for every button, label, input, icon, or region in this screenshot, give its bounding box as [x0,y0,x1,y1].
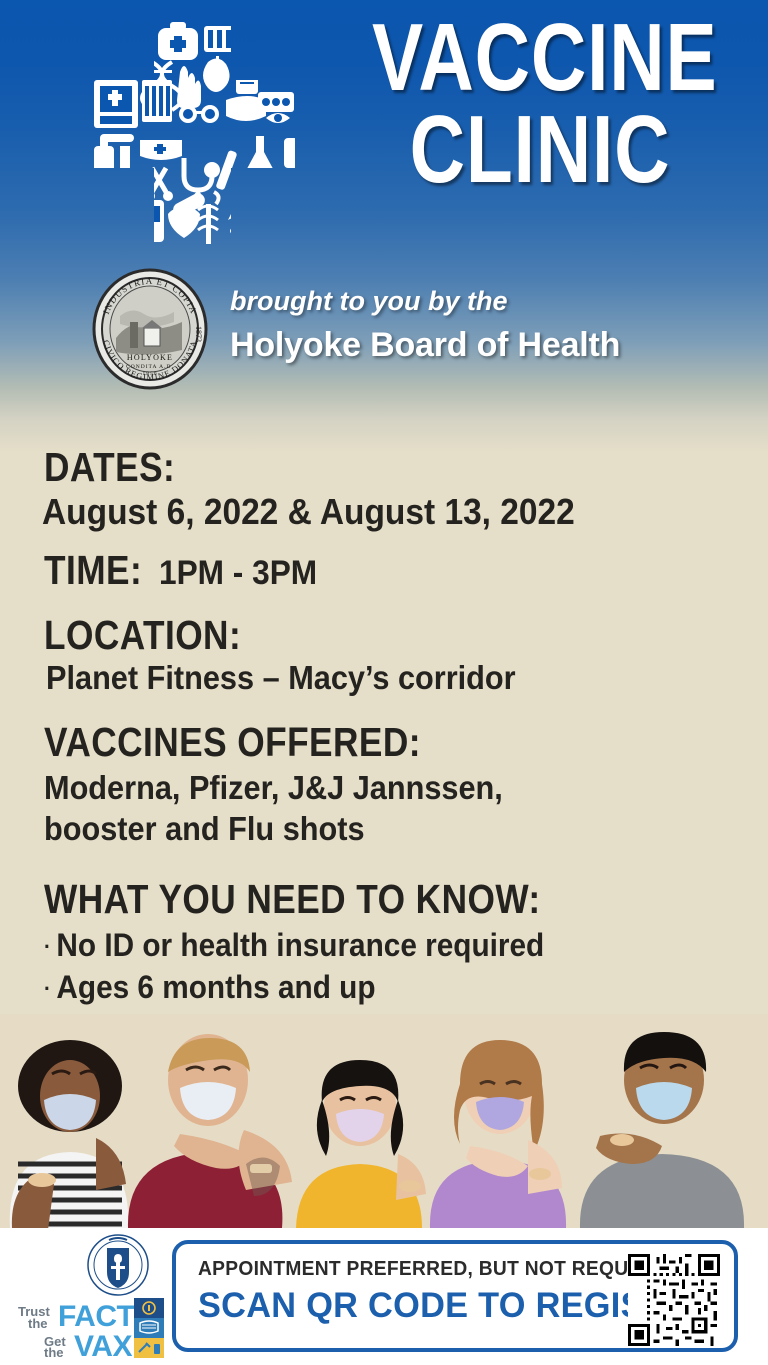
vaccines-label: VACCINES OFFERED: [44,719,421,766]
people-photo-strip [0,1014,768,1228]
holyoke-city-seal-icon: INDUSTRIA ET COPIA CIVICO REGIMINE DONAT… [86,268,214,390]
brought-by-text: brought to you by the [230,286,750,317]
vaccines-list: Moderna, Pfizer, J&J Jannssen, booster a… [44,768,768,850]
bullet-dot-icon: · [44,976,51,1001]
dates-row: DATES: August 6, 2022 & August 13, 2022 [0,444,768,533]
vaccines-line: booster and Flu shots [44,809,717,850]
seal-center-2: CONDITA A.D. [126,364,174,370]
seal-center-3: 1850 [143,371,158,377]
vaccines-row: VACCINES OFFERED: Moderna, Pfizer, J&J J… [0,719,768,850]
trust-the-facts-logo: Trust the FACTS Get the VAX [16,1294,166,1360]
poster-title: VACCINE CLINIC [330,14,750,195]
appointment-note: APPOINTMENT PREFERRED, BUT NOT REQUIRED [198,1258,675,1281]
vaccines-line: Moderna, Pfizer, J&J Jannssen, [44,768,717,809]
medical-icons-cross-icon [80,18,305,250]
location-label: LOCATION: [44,612,241,659]
title-line-2: CLINIC [372,106,708,194]
time-value: 1PM - 3PM [159,554,317,593]
bullet-dot-icon: · [44,934,51,959]
title-line-1: VACCINE [372,14,708,102]
footer-bar: Trust the FACTS Get the VAX [0,1228,768,1365]
massachusetts-state-seal-icon [87,1234,149,1296]
details-section: DATES: August 6, 2022 & August 13, 2022 … [0,430,768,1051]
facts-the1-text: the [28,1316,48,1331]
location-row: LOCATION: Planet Fitness – Macy’s corrid… [0,612,768,697]
vaccine-clinic-flyer: VACCINE CLINIC INDUSTRIA ET COPIA [0,0,768,1365]
time-row: TIME: 1PM - 3PM [0,547,768,594]
dates-label: DATES: [44,444,175,491]
facts-the2-text: the [44,1345,64,1360]
location-value: Planet Fitness – Macy’s corridor [46,659,516,697]
list-item: ·Ages 6 months and up [44,966,717,1009]
qr-registration-box[interactable]: APPOINTMENT PREFERRED, BUT NOT REQUIRED … [172,1240,738,1352]
organization-name: Holyoke Board of Health [230,326,750,365]
registration-qr-code-icon[interactable] [628,1254,720,1346]
seal-year: 1873 [194,326,203,342]
list-item: ·No ID or health insurance required [44,924,717,967]
seal-center-1: HOLYOKE [127,353,173,362]
facts-tiles [134,1298,164,1358]
header-banner: VACCINE CLINIC INDUSTRIA ET COPIA [0,0,768,452]
time-label: TIME: [44,547,142,594]
list-item-label: Ages 6 months and up [56,969,375,1005]
know-label: WHAT YOU NEED TO KNOW: [44,876,541,923]
facts-vax-text: VAX [74,1330,132,1360]
list-item-label: No ID or health insurance required [56,927,544,963]
dates-value: August 6, 2022 & August 13, 2022 [42,491,575,533]
